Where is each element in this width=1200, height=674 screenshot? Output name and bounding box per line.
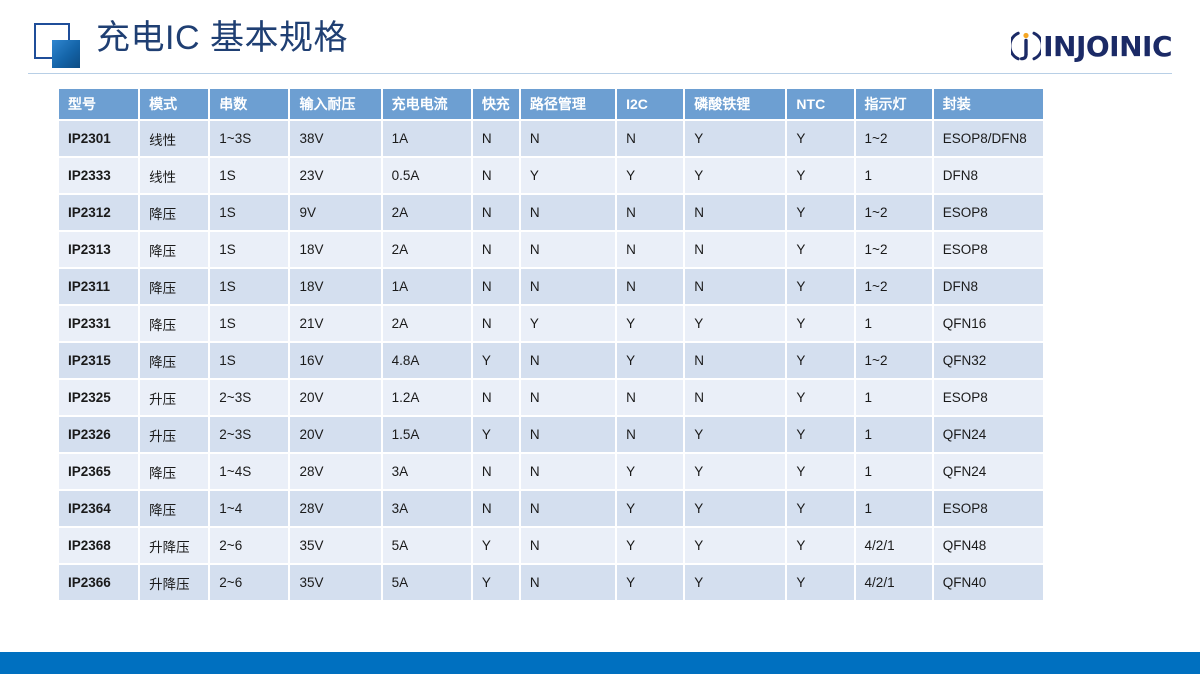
cell-6-10: 1~2 — [856, 343, 932, 378]
cell-0-1: 线性 — [140, 121, 208, 156]
column-header-6[interactable]: 路径管理 — [521, 89, 615, 119]
column-header-2[interactable]: 串数 — [210, 89, 288, 119]
cell-7-8: N — [685, 380, 785, 415]
cell-4-4: 1A — [383, 269, 471, 304]
cell-3-1: 降压 — [140, 232, 208, 267]
cell-0-2: 1~3S — [210, 121, 288, 156]
table-row[interactable]: IP2331降压1S21V2ANYYYY1QFN16 — [59, 306, 1043, 341]
column-header-10[interactable]: 指示灯 — [856, 89, 932, 119]
cell-8-8: Y — [685, 417, 785, 452]
cell-4-6: N — [521, 269, 615, 304]
cell-6-9: Y — [787, 343, 853, 378]
cell-8-7: N — [617, 417, 683, 452]
cell-1-9: Y — [787, 158, 853, 193]
cell-model: IP2313 — [59, 232, 138, 267]
cell-3-4: 2A — [383, 232, 471, 267]
brand-name: INJOINIC — [1043, 30, 1172, 63]
cell-10-8: Y — [685, 491, 785, 526]
cell-4-9: Y — [787, 269, 853, 304]
cell-5-4: 2A — [383, 306, 471, 341]
table-row[interactable]: IP2333线性1S23V0.5ANYYYY1DFN8 — [59, 158, 1043, 193]
cell-2-10: 1~2 — [856, 195, 932, 230]
cell-10-5: N — [473, 491, 519, 526]
cell-model: IP2315 — [59, 343, 138, 378]
cell-9-11: QFN24 — [934, 454, 1043, 489]
cell-1-1: 线性 — [140, 158, 208, 193]
cell-10-1: 降压 — [140, 491, 208, 526]
cell-12-8: Y — [685, 565, 785, 600]
cell-9-4: 3A — [383, 454, 471, 489]
cell-3-7: N — [617, 232, 683, 267]
cell-model: IP2366 — [59, 565, 138, 600]
table-row[interactable]: IP2311降压1S18V1ANNNNY1~2DFN8 — [59, 269, 1043, 304]
cell-11-2: 2~6 — [210, 528, 288, 563]
cell-1-8: Y — [685, 158, 785, 193]
cell-2-9: Y — [787, 195, 853, 230]
table-row[interactable]: IP2326升压2~3S20V1.5AYNNYY1QFN24 — [59, 417, 1043, 452]
cell-9-3: 28V — [290, 454, 380, 489]
cell-0-8: Y — [685, 121, 785, 156]
cell-12-9: Y — [787, 565, 853, 600]
cell-4-3: 18V — [290, 269, 380, 304]
column-header-3[interactable]: 输入耐压 — [290, 89, 380, 119]
cell-7-1: 升压 — [140, 380, 208, 415]
column-header-1[interactable]: 模式 — [140, 89, 208, 119]
cell-0-10: 1~2 — [856, 121, 932, 156]
cell-0-5: N — [473, 121, 519, 156]
table-row[interactable]: IP2325升压2~3S20V1.2ANNNNY1ESOP8 — [59, 380, 1043, 415]
cell-9-2: 1~4S — [210, 454, 288, 489]
cell-8-6: N — [521, 417, 615, 452]
cell-3-6: N — [521, 232, 615, 267]
slide-header: 充电IC 基本规格 INJOINIC — [0, 0, 1200, 74]
cell-11-5: Y — [473, 528, 519, 563]
cell-12-4: 5A — [383, 565, 471, 600]
cell-model: IP2326 — [59, 417, 138, 452]
cell-12-10: 4/2/1 — [856, 565, 932, 600]
table-row[interactable]: IP2315降压1S16V4.8AYNYNY1~2QFN32 — [59, 343, 1043, 378]
cell-11-1: 升降压 — [140, 528, 208, 563]
cell-4-1: 降压 — [140, 269, 208, 304]
cell-9-7: Y — [617, 454, 683, 489]
cell-1-7: Y — [617, 158, 683, 193]
injoinic-j-mark-icon — [1011, 29, 1041, 63]
cell-9-9: Y — [787, 454, 853, 489]
table-body: IP2301线性1~3S38V1ANNNYY1~2ESOP8/DFN8IP233… — [59, 121, 1043, 600]
cell-5-5: N — [473, 306, 519, 341]
column-header-0[interactable]: 型号 — [59, 89, 138, 119]
cell-1-6: Y — [521, 158, 615, 193]
cell-2-2: 1S — [210, 195, 288, 230]
cell-0-4: 1A — [383, 121, 471, 156]
cell-11-11: QFN48 — [934, 528, 1043, 563]
square-filled-shape — [52, 40, 80, 68]
cell-2-7: N — [617, 195, 683, 230]
cell-model: IP2301 — [59, 121, 138, 156]
cell-12-6: N — [521, 565, 615, 600]
cell-2-8: N — [685, 195, 785, 230]
column-header-11[interactable]: 封装 — [934, 89, 1043, 119]
cell-12-11: QFN40 — [934, 565, 1043, 600]
cell-2-3: 9V — [290, 195, 380, 230]
cell-8-3: 20V — [290, 417, 380, 452]
cell-0-7: N — [617, 121, 683, 156]
cell-8-1: 升压 — [140, 417, 208, 452]
cell-5-6: Y — [521, 306, 615, 341]
table-header: 型号模式串数输入耐压充电电流快充路径管理I2C磷酸铁锂NTC指示灯封装 — [59, 89, 1043, 119]
cell-2-5: N — [473, 195, 519, 230]
cell-model: IP2311 — [59, 269, 138, 304]
cell-11-10: 4/2/1 — [856, 528, 932, 563]
cell-7-10: 1 — [856, 380, 932, 415]
cell-5-1: 降压 — [140, 306, 208, 341]
cell-9-1: 降压 — [140, 454, 208, 489]
cell-6-1: 降压 — [140, 343, 208, 378]
cell-11-4: 5A — [383, 528, 471, 563]
cell-1-3: 23V — [290, 158, 380, 193]
column-header-8[interactable]: 磷酸铁锂 — [685, 89, 785, 119]
table-row[interactable]: IP2365降压1~4S28V3ANNYYY1QFN24 — [59, 454, 1043, 489]
cell-5-3: 21V — [290, 306, 380, 341]
cell-11-7: Y — [617, 528, 683, 563]
cell-3-8: N — [685, 232, 785, 267]
two-squares-icon — [34, 23, 86, 68]
table-row[interactable]: IP2313降压1S18V2ANNNNY1~2ESOP8 — [59, 232, 1043, 267]
cell-11-8: Y — [685, 528, 785, 563]
cell-0-3: 38V — [290, 121, 380, 156]
table-row[interactable]: IP2301线性1~3S38V1ANNNYY1~2ESOP8/DFN8 — [59, 121, 1043, 156]
cell-10-7: Y — [617, 491, 683, 526]
cell-2-1: 降压 — [140, 195, 208, 230]
cell-2-4: 2A — [383, 195, 471, 230]
cell-model: IP2331 — [59, 306, 138, 341]
cell-7-2: 2~3S — [210, 380, 288, 415]
cell-5-8: Y — [685, 306, 785, 341]
cell-1-10: 1 — [856, 158, 932, 193]
cell-10-3: 28V — [290, 491, 380, 526]
cell-1-2: 1S — [210, 158, 288, 193]
cell-3-5: N — [473, 232, 519, 267]
table-row[interactable]: IP2364降压1~428V3ANNYYY1ESOP8 — [59, 491, 1043, 526]
cell-10-9: Y — [787, 491, 853, 526]
cell-8-2: 2~3S — [210, 417, 288, 452]
cell-0-6: N — [521, 121, 615, 156]
table-header-row: 型号模式串数输入耐压充电电流快充路径管理I2C磷酸铁锂NTC指示灯封装 — [59, 89, 1043, 119]
cell-7-6: N — [521, 380, 615, 415]
cell-model: IP2312 — [59, 195, 138, 230]
cell-6-2: 1S — [210, 343, 288, 378]
cell-4-11: DFN8 — [934, 269, 1043, 304]
cell-6-8: N — [685, 343, 785, 378]
cell-2-11: ESOP8 — [934, 195, 1043, 230]
cell-0-11: ESOP8/DFN8 — [934, 121, 1043, 156]
cell-3-9: Y — [787, 232, 853, 267]
cell-6-7: Y — [617, 343, 683, 378]
cell-10-4: 3A — [383, 491, 471, 526]
cell-10-6: N — [521, 491, 615, 526]
cell-12-7: Y — [617, 565, 683, 600]
cell-11-6: N — [521, 528, 615, 563]
table-row[interactable]: IP2312降压1S9V2ANNNNY1~2ESOP8 — [59, 195, 1043, 230]
cell-6-3: 16V — [290, 343, 380, 378]
cell-10-11: ESOP8 — [934, 491, 1043, 526]
cell-model: IP2333 — [59, 158, 138, 193]
cell-6-5: Y — [473, 343, 519, 378]
cell-3-3: 18V — [290, 232, 380, 267]
cell-3-2: 1S — [210, 232, 288, 267]
cell-6-4: 4.8A — [383, 343, 471, 378]
cell-6-11: QFN32 — [934, 343, 1043, 378]
cell-6-6: N — [521, 343, 615, 378]
cell-10-2: 1~4 — [210, 491, 288, 526]
cell-4-8: N — [685, 269, 785, 304]
cell-9-5: N — [473, 454, 519, 489]
cell-1-4: 0.5A — [383, 158, 471, 193]
cell-4-10: 1~2 — [856, 269, 932, 304]
cell-12-5: Y — [473, 565, 519, 600]
cell-7-5: N — [473, 380, 519, 415]
column-header-7[interactable]: I2C — [617, 89, 683, 119]
cell-12-2: 2~6 — [210, 565, 288, 600]
cell-1-11: DFN8 — [934, 158, 1043, 193]
cell-2-6: N — [521, 195, 615, 230]
cell-5-9: Y — [787, 306, 853, 341]
cell-7-4: 1.2A — [383, 380, 471, 415]
cell-8-4: 1.5A — [383, 417, 471, 452]
cell-12-3: 35V — [290, 565, 380, 600]
charging-ic-spec-table: 型号模式串数输入耐压充电电流快充路径管理I2C磷酸铁锂NTC指示灯封装 IP23… — [57, 87, 1045, 602]
cell-9-6: N — [521, 454, 615, 489]
cell-8-11: QFN24 — [934, 417, 1043, 452]
cell-3-11: ESOP8 — [934, 232, 1043, 267]
brand-logo: INJOINIC — [1011, 29, 1172, 63]
table-row[interactable]: IP2366升降压2~635V5AYNYYY4/2/1QFN40 — [59, 565, 1043, 600]
cell-7-9: Y — [787, 380, 853, 415]
cell-4-2: 1S — [210, 269, 288, 304]
cell-11-3: 35V — [290, 528, 380, 563]
page-title: 充电IC 基本规格 — [96, 16, 348, 60]
cell-5-10: 1 — [856, 306, 932, 341]
cell-8-9: Y — [787, 417, 853, 452]
cell-model: IP2365 — [59, 454, 138, 489]
cell-10-10: 1 — [856, 491, 932, 526]
cell-5-2: 1S — [210, 306, 288, 341]
cell-7-3: 20V — [290, 380, 380, 415]
cell-model: IP2364 — [59, 491, 138, 526]
cell-7-7: N — [617, 380, 683, 415]
cell-12-1: 升降压 — [140, 565, 208, 600]
column-header-5[interactable]: 快充 — [473, 89, 519, 119]
cell-7-11: ESOP8 — [934, 380, 1043, 415]
cell-8-5: Y — [473, 417, 519, 452]
title-divider — [28, 73, 1172, 74]
footer-bar — [0, 652, 1200, 674]
cell-3-10: 1~2 — [856, 232, 932, 267]
cell-1-5: N — [473, 158, 519, 193]
cell-5-11: QFN16 — [934, 306, 1043, 341]
column-header-9[interactable]: NTC — [787, 89, 853, 119]
cell-4-7: N — [617, 269, 683, 304]
table-row[interactable]: IP2368升降压2~635V5AYNYYY4/2/1QFN48 — [59, 528, 1043, 563]
cell-9-10: 1 — [856, 454, 932, 489]
cell-5-7: Y — [617, 306, 683, 341]
cell-9-8: Y — [685, 454, 785, 489]
cell-0-9: Y — [787, 121, 853, 156]
column-header-4[interactable]: 充电电流 — [383, 89, 471, 119]
cell-11-9: Y — [787, 528, 853, 563]
cell-4-5: N — [473, 269, 519, 304]
cell-model: IP2368 — [59, 528, 138, 563]
cell-8-10: 1 — [856, 417, 932, 452]
cell-model: IP2325 — [59, 380, 138, 415]
